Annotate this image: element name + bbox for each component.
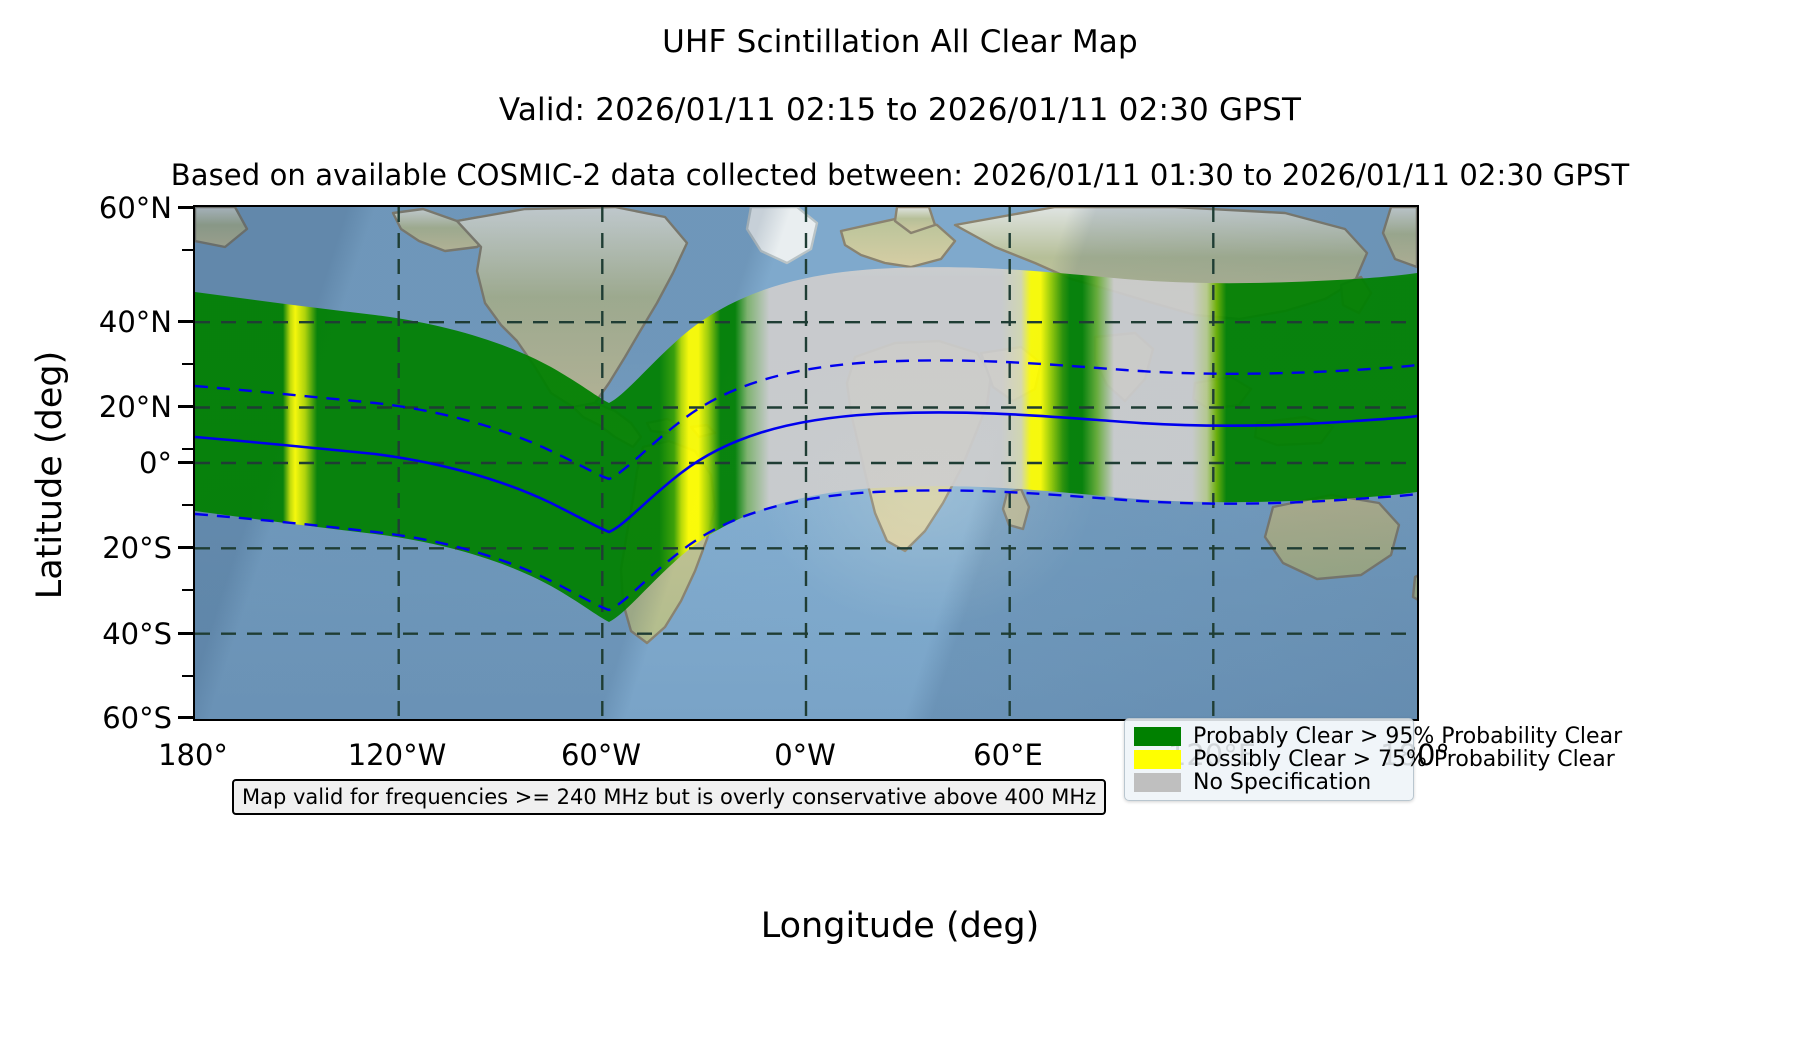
y-tick-20s: [178, 546, 193, 549]
map-legend[interactable]: Probably Clear > 95% Probability Clear P…: [1124, 718, 1414, 801]
y-tick-label-60s: 60°S: [0, 701, 172, 735]
y-tick-60s: [178, 716, 193, 719]
y-tick-label-20n: 20°N: [0, 390, 172, 424]
y-tick-minor-30s: [182, 589, 193, 591]
y-tick-60n: [178, 206, 193, 209]
y-tick-label-40s: 40°S: [0, 617, 172, 651]
y-tick-minor-10n: [182, 448, 193, 450]
x-tick-label-180w: 180°: [93, 738, 293, 772]
legend-label-possibly-clear: Possibly Clear > 75% Probability Clear: [1193, 749, 1615, 771]
legend-label-probably-clear: Probably Clear > 95% Probability Clear: [1193, 726, 1622, 748]
legend-item-probably-clear: Probably Clear > 95% Probability Clear: [1134, 725, 1405, 748]
map-canvas: [195, 207, 1417, 719]
map-plot-area[interactable]: [193, 205, 1419, 721]
page-title: UHF Scintillation All Clear Map: [0, 24, 1800, 60]
frequency-validity-note-text: Map valid for frequencies >= 240 MHz but…: [242, 785, 1096, 809]
y-tick-minor-30n: [182, 363, 193, 365]
x-tick-label-0: 0°W: [705, 738, 905, 772]
legend-label-no-specification: No Specification: [1193, 772, 1371, 794]
y-tick-0: [178, 461, 193, 464]
y-tick-label-60n: 60°N: [0, 191, 172, 225]
magnetic-equator-layer: [195, 207, 1417, 719]
validity-subtitle: Valid: 2026/01/11 02:15 to 2026/01/11 02…: [0, 92, 1800, 128]
x-tick-label-60w: 60°W: [501, 738, 701, 772]
x-tick-label-120w: 120°W: [297, 738, 497, 772]
x-tick-label-60e: 60°E: [908, 738, 1108, 772]
legend-item-possibly-clear: Possibly Clear > 75% Probability Clear: [1134, 748, 1405, 771]
x-axis-title: Longitude (deg): [0, 906, 1800, 946]
y-tick-minor-10s: [182, 504, 193, 506]
y-tick-label-40n: 40°N: [0, 305, 172, 339]
legend-item-no-specification: No Specification: [1134, 771, 1405, 794]
upper-boundary-curve: [195, 360, 1417, 479]
yellow-swatch-icon: [1134, 750, 1181, 769]
lower-boundary-curve: [195, 490, 1417, 610]
y-tick-40n: [178, 320, 193, 323]
green-swatch-icon: [1134, 727, 1181, 746]
y-tick-40s: [178, 632, 193, 635]
y-tick-20n: [178, 405, 193, 408]
y-tick-minor-50s: [182, 675, 193, 677]
frequency-validity-note: Map valid for frequencies >= 240 MHz but…: [232, 779, 1106, 815]
data-source-subtitle: Based on available COSMIC-2 data collect…: [0, 158, 1800, 192]
magnetic-equator-curve: [195, 412, 1417, 532]
y-tick-label-0: 0°: [0, 446, 172, 480]
scintillation-map-page: UHF Scintillation All Clear Map Valid: 2…: [0, 0, 1800, 1050]
title-block: UHF Scintillation All Clear Map Valid: 2…: [0, 0, 1800, 192]
y-tick-minor-50n: [182, 249, 193, 251]
y-tick-label-20s: 20°S: [0, 531, 172, 565]
gray-swatch-icon: [1134, 773, 1181, 792]
y-axis-title: Latitude (deg): [30, 275, 70, 675]
